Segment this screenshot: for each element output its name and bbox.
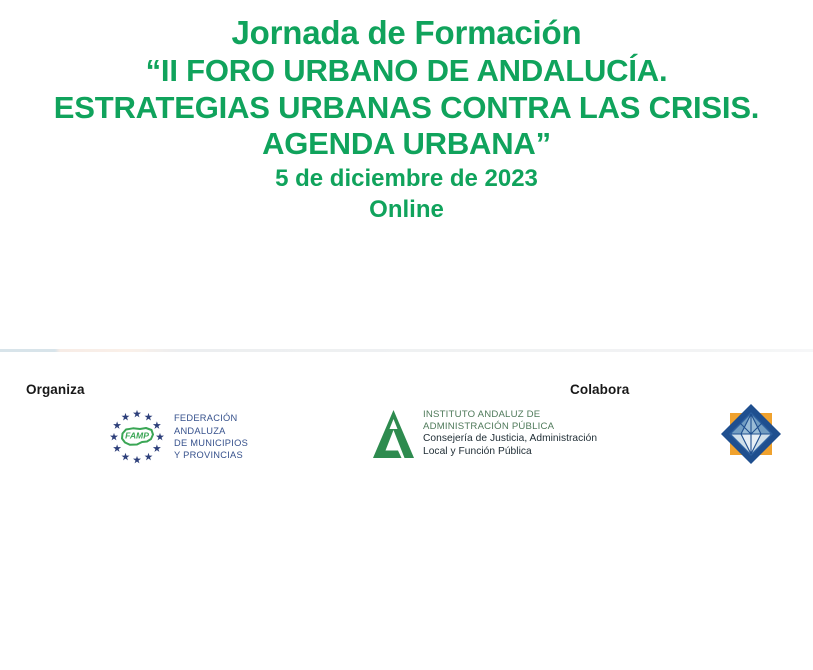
famp-text-line-3: DE MUNICIPIOS	[174, 437, 248, 449]
iaap-logo: INSTITUTO ANDALUZ DE ADMINISTRACIÓN PÚBL…	[371, 404, 621, 464]
iaap-text-line-3: Consejería de Justicia, Administración	[423, 433, 597, 446]
famp-text-line-2: ANDALUZA	[174, 425, 248, 437]
svg-text:FAMP: FAMP	[125, 431, 149, 441]
title-block: Jornada de Formación “II FORO URBANO DE …	[0, 14, 813, 226]
title-line-2: “II FORO URBANO DE ANDALUCÍA.	[0, 53, 813, 90]
colabora-label: Colabora	[570, 382, 629, 397]
horizontal-divider	[0, 349, 813, 352]
famp-logo: FAMP FEDERACIÓN ANDALUZA DE MUNICIPIOS Y…	[106, 406, 246, 468]
iaap-text-line-1: INSTITUTO ANDALUZ DE	[423, 409, 597, 421]
iaap-text-line-4: Local y Función Pública	[423, 446, 597, 459]
organiza-label: Organiza	[26, 382, 85, 397]
title-line-1: Jornada de Formación	[0, 14, 813, 53]
event-date: 5 de diciembre de 2023	[0, 163, 813, 195]
rombo-logo	[718, 401, 784, 467]
famp-logo-text: FEDERACIÓN ANDALUZA DE MUNICIPIOS Y PROV…	[174, 412, 248, 461]
presentation-slide: Jornada de Formación “II FORO URBANO DE …	[0, 0, 813, 670]
famp-text-line-1: FEDERACIÓN	[174, 412, 248, 424]
iaap-logo-text: INSTITUTO ANDALUZ DE ADMINISTRACIÓN PÚBL…	[423, 409, 597, 459]
blue-diamond-emblem-icon	[718, 454, 784, 471]
famp-emblem-icon: FAMP	[106, 406, 168, 468]
title-line-3: ESTRATEGIAS URBANAS CONTRA LAS CRISIS.	[0, 90, 813, 127]
famp-text-line-4: Y PROVINCIAS	[174, 449, 248, 461]
iaap-text-line-2: ADMINISTRACIÓN PÚBLICA	[423, 421, 597, 433]
event-modality: Online	[0, 194, 813, 226]
junta-andalucia-a-icon	[371, 408, 416, 460]
title-line-4: AGENDA URBANA”	[0, 126, 813, 163]
